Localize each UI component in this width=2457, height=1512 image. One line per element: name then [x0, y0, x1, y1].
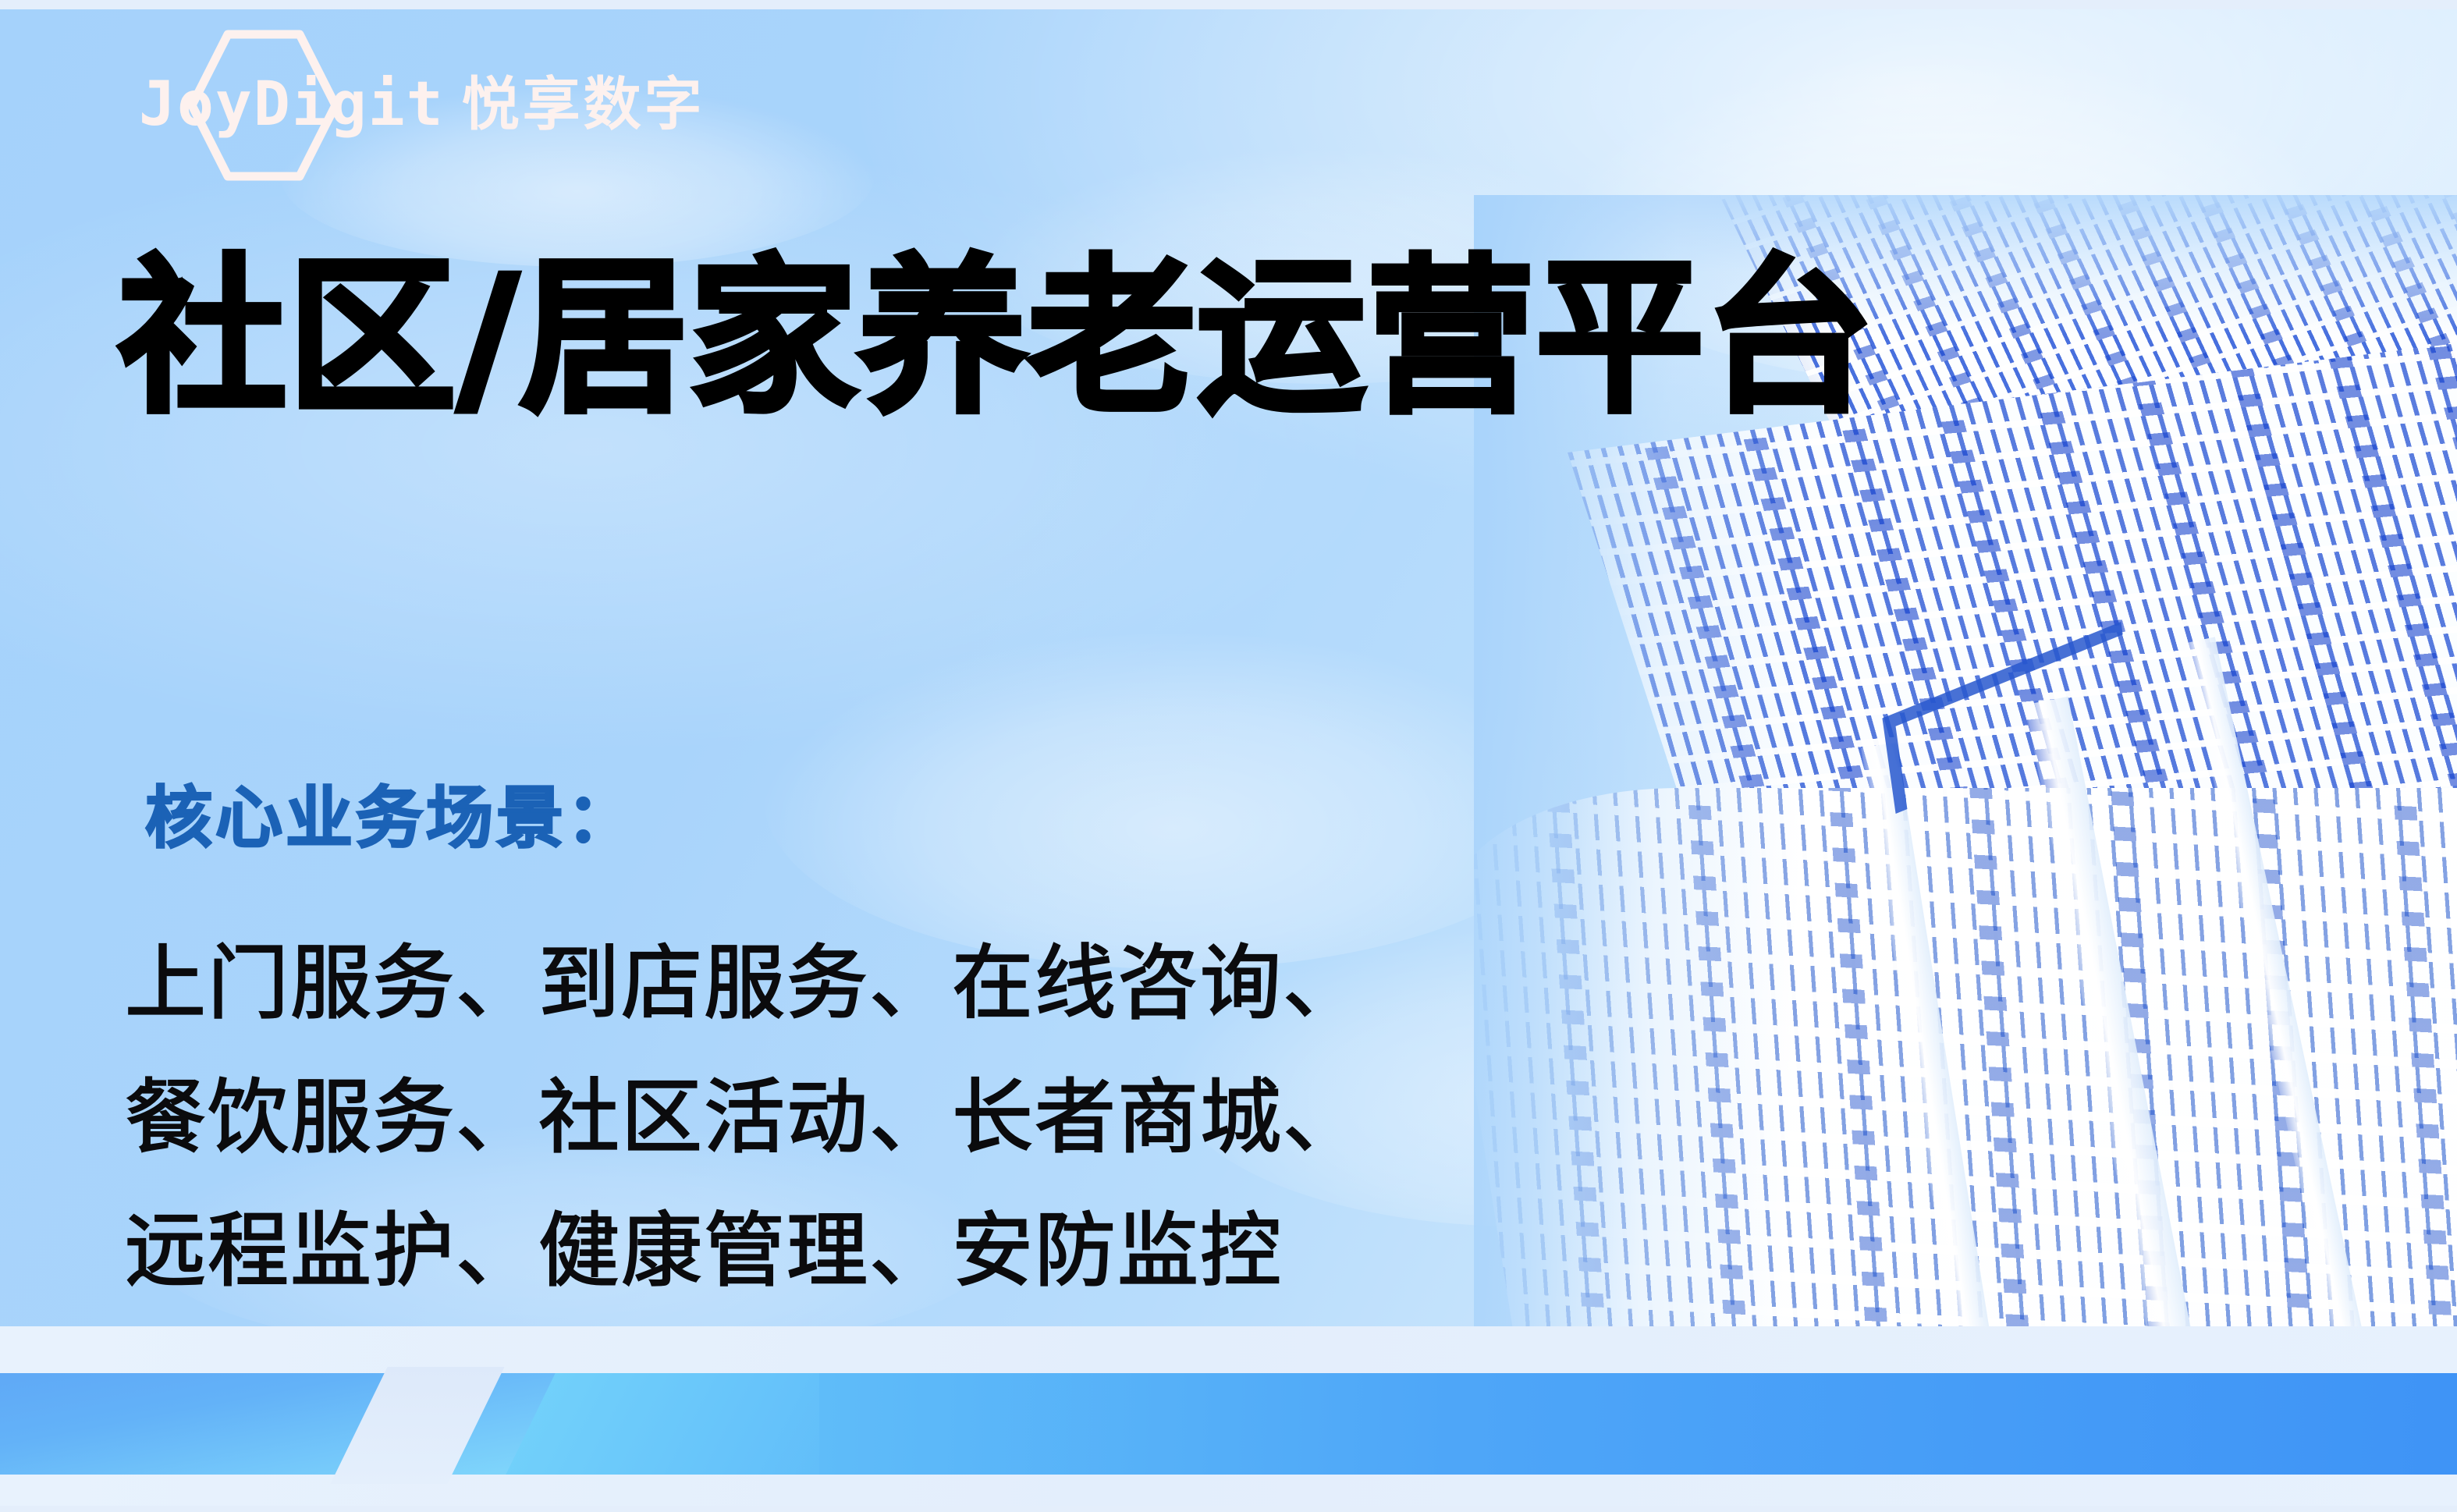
bottom-edge-strip — [0, 1506, 2457, 1512]
top-edge-strip — [0, 0, 2457, 9]
band-parallelogram-right-flat — [819, 1373, 2457, 1475]
brand-logo[interactable]: JoyDigit 悦享数字 — [139, 67, 705, 142]
logo-wordmark: JoyDigit — [139, 74, 445, 135]
scenario-line: 远程监护、健康管理、安防监控 — [125, 1184, 1365, 1319]
page-title: 社区/居家养老运营平台 — [119, 250, 1875, 426]
section-heading: 核心业务场景： — [145, 763, 637, 861]
footer-decorative-band — [0, 1326, 2457, 1512]
logo-chinese-name: 悦享数字 — [462, 76, 705, 133]
scenario-line: 餐饮服务、社区活动、长者商城、 — [125, 1051, 1365, 1185]
scenario-list: 上门服务、到店服务、在线咨询、 餐饮服务、社区活动、长者商城、 远程监护、健康管… — [125, 917, 1365, 1319]
scenario-line: 上门服务、到店服务、在线咨询、 — [125, 917, 1365, 1051]
slide-canvas: JoyDigit 悦享数字 社区/居家养老运营平台 核心业务场景： 上门服务、到… — [0, 0, 2457, 1512]
